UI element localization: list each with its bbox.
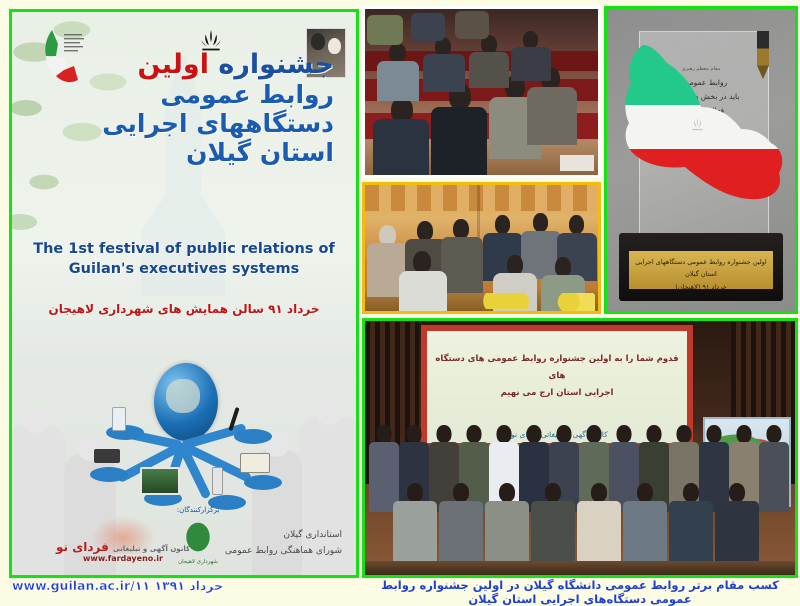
- english-title-line-2: Guilan's executives systems: [12, 260, 356, 280]
- photo-group-awards: قدوم شما را به اولین جشنواره روابط عمومی…: [362, 318, 798, 578]
- screen-line-1: قدوم شما را به اولین جشنواره روابط عمومی…: [435, 351, 679, 385]
- smartphone-icon: [112, 407, 126, 431]
- iran-map-flag-icon: [613, 37, 793, 227]
- network-node: [244, 475, 282, 490]
- caption-right-headline: کسب مقام برتر روابط عمومی دانشگاه گیلان …: [366, 578, 794, 606]
- org-line-2: شورای هماهنگی روابط عمومی: [225, 544, 342, 559]
- municipality-seal: برگزارکنندگان: شهرداری لاهیجان: [170, 506, 226, 565]
- photo-audience-red-seats: [362, 6, 601, 178]
- headline-line-4: استان گیلان: [18, 139, 334, 166]
- trophy-plate-line-1: اولین جشنواره روابط عمومی دستگاههای اجرا…: [629, 256, 773, 281]
- photo-trophy: مقام معظم رهبری روابط عمومی ها باید در ب…: [604, 6, 798, 314]
- poster-date-venue: خرداد ۹۱ سالن همایش های شهرداری لاهیجان: [12, 302, 356, 316]
- municipality-emblem-icon: [178, 515, 218, 559]
- trophy-plate: اولین جشنواره روابط عمومی دستگاههای اجرا…: [629, 251, 773, 289]
- laptop-icon: [94, 449, 120, 463]
- globe-icon: [154, 363, 218, 441]
- poster-graphic-area: کانون آگهی و تبلیغاتی فردای نو www.farda…: [12, 325, 356, 575]
- photo-audience-yellow-hall: [362, 182, 601, 314]
- poster-english-title: The 1st festival of public relations of …: [12, 240, 356, 279]
- headline-line-1: جشنواره اولین: [18, 50, 334, 79]
- headline-line-3: دستگاههای اجرایی: [18, 110, 334, 137]
- caption-left-url[interactable]: www.guilan.ac.ir/۱۱ خرداد ۱۳۹۱: [12, 578, 262, 593]
- seal-caption: شهرداری لاهیجان: [170, 559, 226, 565]
- poster-organizers-row: کانون آگهی و تبلیغاتی فردای نو www.farda…: [12, 491, 356, 569]
- screen-welcome-text: قدوم شما را به اولین جشنواره روابط عمومی…: [435, 351, 679, 402]
- trophy-plate-line-2: خرداد ۹۱ (لاهیجان): [629, 281, 773, 293]
- provincial-org-names: استانداری گیلان شورای هماهنگی روابط عموم…: [225, 528, 342, 559]
- sponsor-label: برگزارکنندگان:: [170, 506, 226, 514]
- org-line-1: استانداری گیلان: [225, 528, 342, 543]
- book-icon: [240, 453, 270, 473]
- headline-line-2: روابط عمومی: [18, 81, 334, 108]
- screenshot-root: جشنواره اولین روابط عمومی دستگاههای اجرا…: [0, 0, 800, 600]
- english-title-line-1: The 1st festival of public relations of: [12, 240, 356, 260]
- festival-poster: جشنواره اولین روابط عمومی دستگاههای اجرا…: [9, 9, 359, 578]
- poster-headline: جشنواره اولین روابط عمومی دستگاههای اجرا…: [18, 50, 348, 166]
- screen-line-2: اجرایی استان ارج می نهیم: [435, 385, 679, 402]
- network-node: [90, 467, 128, 482]
- network-node: [234, 429, 272, 444]
